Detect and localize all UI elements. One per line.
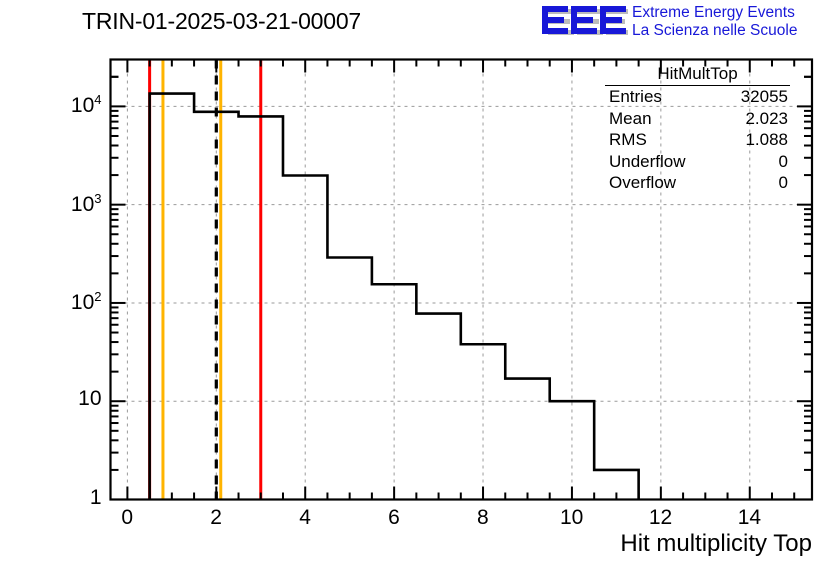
x-tick-label-14: 14 [738, 506, 761, 530]
eee-logo-text: Extreme Energy Events La Scienza nelle S… [632, 4, 797, 40]
stats-title: HitMultTop [605, 64, 790, 86]
y-tick-label-1000: 103 [71, 191, 102, 217]
eee-logo-line1: Extreme Energy Events [632, 4, 795, 21]
stats-key-rms: RMS [609, 129, 647, 151]
y-tick-label-100: 102 [71, 289, 102, 315]
x-tick-label-10: 10 [560, 506, 583, 530]
x-tick-label-8: 8 [477, 506, 489, 530]
root-canvas: TRIN-01-2025-03-21-00007 [0, 0, 836, 572]
y-tick-label-10: 10 [78, 387, 101, 411]
stats-key-underflow: Underflow [609, 151, 686, 173]
stats-value-rms: 1.088 [745, 129, 788, 151]
y-tick-label-10000: 104 [71, 92, 102, 118]
marker-lines [150, 60, 261, 500]
x-tick-label-0: 0 [121, 506, 133, 530]
stats-value-entries: 32055 [741, 86, 788, 108]
stats-key-mean: Mean [609, 108, 652, 130]
x-tick-label-2: 2 [210, 506, 222, 530]
stats-value-mean: 2.023 [745, 108, 788, 130]
stats-key-overflow: Overflow [609, 172, 676, 194]
page-title: TRIN-01-2025-03-21-00007 [82, 8, 361, 35]
stats-value-overflow: 0 [779, 172, 788, 194]
x-axis-title: Hit multiplicity Top [620, 530, 812, 558]
stats-row-entries: Entries 32055 [605, 86, 790, 108]
stats-row-overflow: Overflow 0 [605, 172, 790, 194]
stats-key-entries: Entries [609, 86, 662, 108]
stats-row-rms: RMS 1.088 [605, 129, 790, 151]
x-tick-label-12: 12 [649, 506, 672, 530]
stats-row-underflow: Underflow 0 [605, 151, 790, 173]
eee-logo: Extreme Energy Events La Scienza nelle S… [540, 3, 836, 45]
x-tick-label-6: 6 [388, 506, 400, 530]
eee-logo-line2: La Scienza nelle Scuole [632, 22, 797, 40]
stats-box: HitMultTop Entries 32055 Mean 2.023 RMS … [605, 64, 790, 194]
x-tick-label-4: 4 [299, 506, 311, 530]
stats-value-underflow: 0 [779, 151, 788, 173]
eee-logo-mark [540, 5, 628, 38]
y-tick-label-1: 1 [90, 486, 102, 510]
stats-row-mean: Mean 2.023 [605, 108, 790, 130]
